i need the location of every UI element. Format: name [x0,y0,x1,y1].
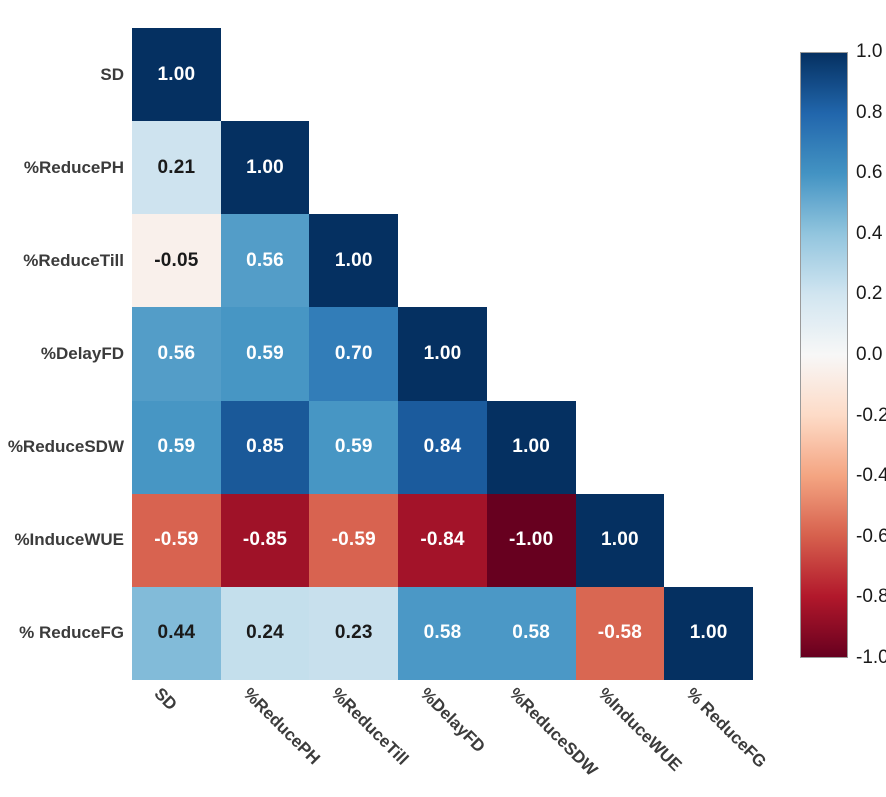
heatmap-cell-value: -0.59 [332,529,376,551]
row-label-axis: SD%ReducePH%ReduceTill%DelayFD%ReduceSDW… [0,28,132,680]
heatmap-cell: 0.56 [221,214,310,307]
heatmap-cell-value: 1.00 [246,157,284,179]
heatmap-cell: 1.00 [576,494,665,587]
colorbar-tick-label: 0.6 [856,162,882,184]
col-label-inducewue: %InduceWUE [593,684,685,776]
heatmap-cell: 0.85 [221,401,310,494]
heatmap-cell: -0.58 [576,587,665,680]
colorbar-tick-label: 0.4 [856,223,882,245]
heatmap-cell-value: 1.00 [424,343,462,365]
colorbar-tick-label: 0.8 [856,102,882,124]
heatmap-cell-value: -0.85 [243,529,287,551]
colorbar-tick-label: -0.4 [856,465,886,487]
colorbar-tick-label: -0.2 [856,405,886,427]
heatmap-cell: 1.00 [132,28,221,121]
heatmap-cell-value: 0.59 [335,436,373,458]
column-label-axis: SD%ReducePH%ReduceTill%DelayFD%ReduceSDW… [132,684,753,797]
heatmap-cell: 0.21 [132,121,221,214]
heatmap-cell: -0.59 [132,494,221,587]
heatmap-cell: 0.59 [309,401,398,494]
heatmap-cell: 1.00 [664,587,753,680]
heatmap-cell-value: 0.23 [335,622,373,644]
heatmap-cell: -1.00 [487,494,576,587]
colorbar-tick-label: -0.8 [856,586,886,608]
heatmap-cell: -0.85 [221,494,310,587]
heatmap-cell-value: 0.56 [157,343,195,365]
heatmap-cell: 1.00 [309,214,398,307]
row-label-delayfd: %DelayFD [6,307,132,400]
heatmap-cell: 1.00 [221,121,310,214]
correlation-heatmap-grid: 1.000.211.00-0.050.561.000.560.590.701.0… [132,28,753,680]
heatmap-cell: -0.05 [132,214,221,307]
heatmap-cell: 1.00 [398,307,487,400]
colorbar-tick-label: 0.0 [856,344,882,366]
heatmap-cell-value: 1.00 [601,529,639,551]
heatmap-cell: 0.58 [487,587,576,680]
heatmap-cell-value: 1.00 [690,622,728,644]
heatmap-cell-value: 0.44 [157,622,195,644]
colorbar-tick-label: 1.0 [856,41,882,63]
row-label-reducetill: %ReduceTill [6,214,132,307]
heatmap-cell-value: 0.59 [157,436,195,458]
colorbar-tick-label: -0.6 [856,526,886,548]
colorbar-gradient [800,52,848,658]
heatmap-cell-value: 1.00 [512,436,550,458]
heatmap-cell: 0.58 [398,587,487,680]
heatmap-cell: 1.00 [487,401,576,494]
colorbar-tick-label: 0.2 [856,283,882,305]
heatmap-cell-value: 1.00 [157,64,195,86]
colorbar-tick-label: -1.0 [856,647,886,669]
heatmap-cell-value: 0.70 [335,343,373,365]
heatmap-cell: 0.59 [132,401,221,494]
row-label-reduceph: %ReducePH [6,121,132,214]
heatmap-cell-value: -0.05 [154,250,198,272]
heatmap-cell-value: 0.56 [246,250,284,272]
heatmap-cell-value: -0.58 [598,622,642,644]
heatmap-cell-value: -0.84 [420,529,464,551]
heatmap-cell: 0.23 [309,587,398,680]
heatmap-cell-value: 0.59 [246,343,284,365]
col-label-reduceph: %ReducePH [238,684,323,769]
row-label-reducesdw: %ReduceSDW [6,401,132,494]
col-label-delayfd: %DelayFD [416,684,489,757]
heatmap-cell-value: 0.58 [424,622,462,644]
col-label-sd: SD [150,684,181,715]
heatmap-cell: 0.44 [132,587,221,680]
heatmap-cell: -0.59 [309,494,398,587]
col-label-reducetill: %ReduceTill [327,684,412,769]
heatmap-cell-value: -0.59 [154,529,198,551]
heatmap-cell: 0.59 [221,307,310,400]
heatmap-cell-value: -1.00 [509,529,553,551]
heatmap-cell-value: 0.84 [424,436,462,458]
col-label-reducesdw: %ReduceSDW [505,684,601,780]
heatmap-cell-value: 0.58 [512,622,550,644]
heatmap-cell: 0.70 [309,307,398,400]
heatmap-cell-value: 0.85 [246,436,284,458]
heatmap-cell: -0.84 [398,494,487,587]
row-label-sd: SD [6,28,132,121]
heatmap-cell-value: 0.24 [246,622,284,644]
row-label-reducefg: % ReduceFG [6,587,132,680]
heatmap-cell-value: 0.21 [157,157,195,179]
heatmap-figure: SD%ReducePH%ReduceTill%DelayFD%ReduceSDW… [0,0,886,797]
heatmap-cell-value: 1.00 [335,250,373,272]
heatmap-cell: 0.84 [398,401,487,494]
heatmap-cell: 0.24 [221,587,310,680]
heatmap-cell: 0.56 [132,307,221,400]
row-label-inducewue: %InduceWUE [6,494,132,587]
colorbar-legend: 1.00.80.60.40.20.0-0.2-0.4-0.6-0.8-1.0 [800,52,886,672]
col-label-reducefg: % ReduceFG [682,684,770,772]
